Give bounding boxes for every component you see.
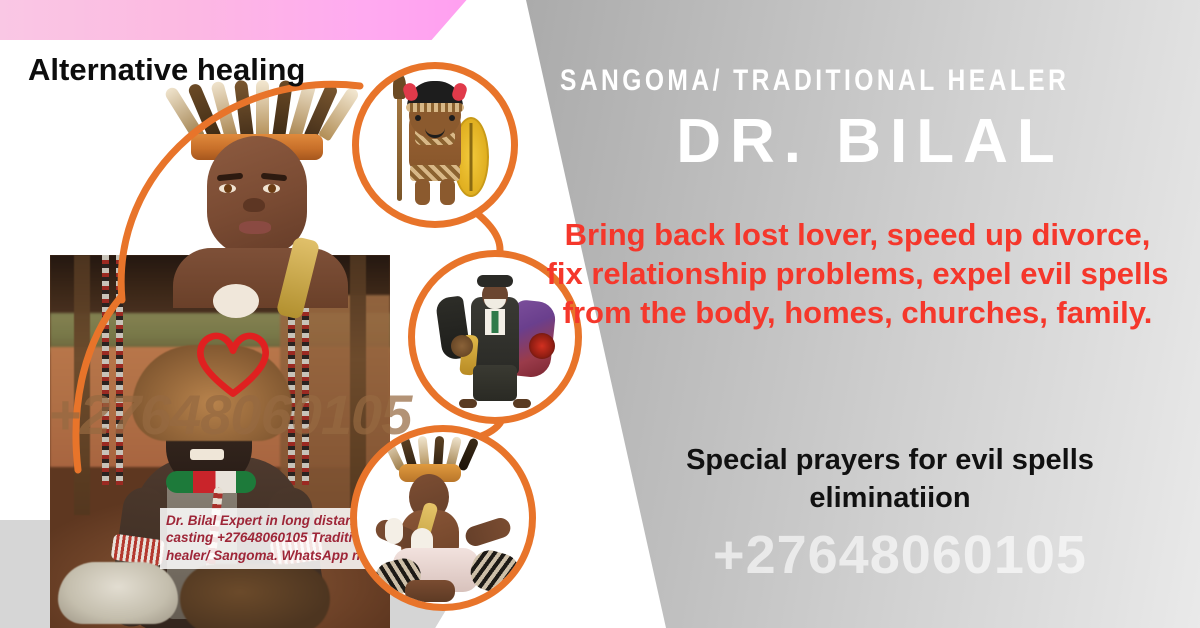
crouching-warrior-figure <box>357 432 529 604</box>
fur-collar <box>213 284 259 318</box>
healer-name: DR. BILAL <box>560 106 1180 177</box>
spear-shaft <box>397 83 402 201</box>
services-text: Bring back lost lover, speed up divorce,… <box>545 216 1170 332</box>
mouth <box>239 221 271 234</box>
poster-canvas: Alternative healing <box>0 0 1200 628</box>
circle-crouching-warrior <box>350 425 536 611</box>
kicker-text: SANGOMA/ TRADITIONAL HEALER <box>560 64 1068 98</box>
diviner-red-emblem <box>529 333 555 359</box>
neck-beads <box>166 471 256 493</box>
warrior-eye-right <box>449 115 455 121</box>
warrior-leg-right <box>440 179 455 205</box>
warrior-headband <box>406 103 464 112</box>
crouching-warrior-arm-right <box>463 515 513 548</box>
diviner-hat <box>477 275 513 287</box>
ghost-phone-number: +27648060105 <box>620 524 1180 586</box>
portrait-shoulder <box>173 248 348 308</box>
healer-teeth <box>190 449 224 460</box>
eye-left <box>219 184 236 193</box>
diviner-shoe-left <box>459 399 477 408</box>
warrior-leg-left <box>415 179 430 205</box>
ritual-bowl <box>58 562 178 624</box>
diviner-gourd <box>451 335 473 357</box>
warrior-eye-left <box>415 115 421 121</box>
ritual-gourd <box>180 564 330 628</box>
diviner-tie <box>492 311 499 333</box>
illustrated-healer-portrait <box>165 88 350 278</box>
circle-zulu-warrior <box>352 62 518 228</box>
pink-accent-bar <box>0 0 470 40</box>
diviner-pants <box>473 365 517 401</box>
bead-strand-left <box>102 255 109 485</box>
portrait-face <box>207 136 307 256</box>
special-prayers-text: Special prayers for evil spells eliminat… <box>605 442 1175 517</box>
eye-right <box>263 184 280 193</box>
crouching-warrior-leg <box>405 580 455 602</box>
crouching-warrior-fur-right <box>385 518 403 544</box>
diviner-shoe-right <box>513 399 531 408</box>
nose <box>243 198 265 212</box>
page-title: Alternative healing <box>28 52 305 88</box>
zulu-warrior-figure <box>359 69 511 221</box>
